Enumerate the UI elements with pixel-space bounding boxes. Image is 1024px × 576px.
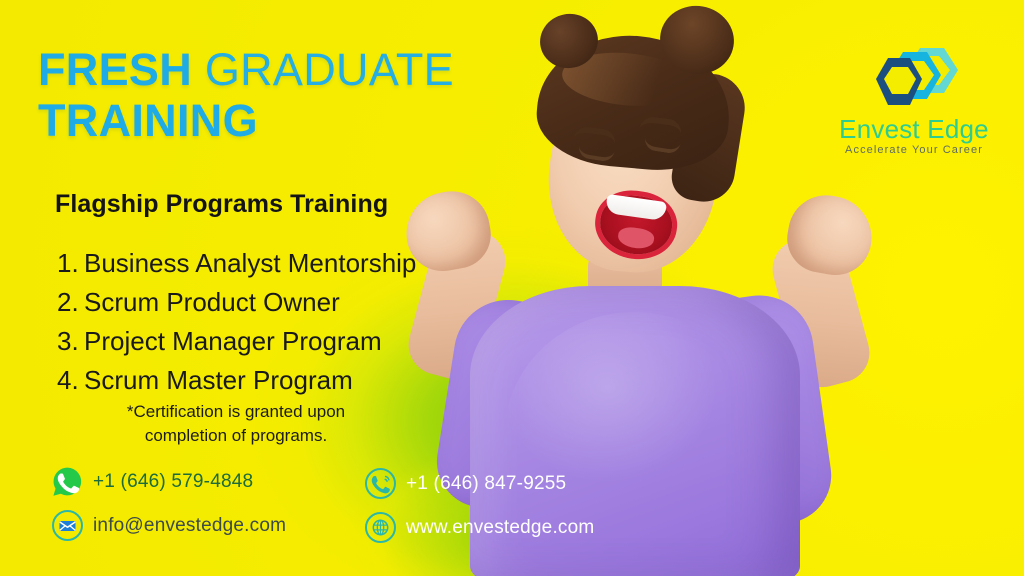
contact-phone[interactable]: +1 (646) 847-9255 xyxy=(365,468,566,499)
headline-line-1: FRESH GRADUATE xyxy=(38,44,518,95)
list-item-number: 4. xyxy=(57,365,84,396)
list-item-label: Business Analyst Mentorship xyxy=(84,248,416,279)
list-item-label: Project Manager Program xyxy=(84,326,382,357)
list-item-number: 2. xyxy=(57,287,84,318)
headline-training: TRAINING xyxy=(38,95,258,146)
logo-wordmark: Envest Edge xyxy=(826,114,1002,145)
whatsapp-icon xyxy=(52,466,83,497)
list-item-number: 1. xyxy=(57,248,84,279)
subheading: Flagship Programs Training xyxy=(55,190,388,219)
website-url: www.envestedge.com xyxy=(406,517,594,539)
contact-whatsapp[interactable]: +1 (646) 579-4848 xyxy=(52,466,253,497)
hexagon-mark-icon xyxy=(870,46,962,112)
phone-ringing-icon xyxy=(365,468,396,499)
phone-number: +1 (646) 847-9255 xyxy=(406,473,566,495)
contact-website[interactable]: www.envestedge.com xyxy=(365,512,594,543)
globe-icon xyxy=(365,512,396,543)
marketing-banner: FRESH GRADUATE TRAINING Flagship Program… xyxy=(0,0,1024,576)
disclaimer-line-2: completion of programs. xyxy=(92,424,380,448)
list-item-number: 3. xyxy=(57,326,84,357)
contact-email[interactable]: info@envestedge.com xyxy=(52,510,286,541)
list-item: 1. Business Analyst Mentorship xyxy=(57,248,416,279)
envelope-icon xyxy=(52,510,83,541)
certification-disclaimer: *Certification is granted upon completio… xyxy=(92,400,380,448)
whatsapp-number: +1 (646) 579-4848 xyxy=(93,471,253,493)
headline-fresh: FRESH xyxy=(38,44,192,95)
list-item: 4. Scrum Master Program xyxy=(57,365,416,396)
headline-graduate: GRADUATE xyxy=(205,44,454,95)
programs-list: 1. Business Analyst Mentorship 2. Scrum … xyxy=(57,248,416,404)
headline-line-2: TRAINING xyxy=(38,95,518,146)
brand-logo: Envest Edge Accelerate Your Career xyxy=(826,46,1002,164)
list-item: 3. Project Manager Program xyxy=(57,326,416,357)
list-item-label: Scrum Product Owner xyxy=(84,287,340,318)
logo-tagline: Accelerate Your Career xyxy=(826,144,1002,156)
disclaimer-line-1: *Certification is granted upon xyxy=(92,400,380,424)
email-address: info@envestedge.com xyxy=(93,515,286,537)
headline: FRESH GRADUATE TRAINING xyxy=(38,44,518,147)
list-item-label: Scrum Master Program xyxy=(84,365,353,396)
list-item: 2. Scrum Product Owner xyxy=(57,287,416,318)
